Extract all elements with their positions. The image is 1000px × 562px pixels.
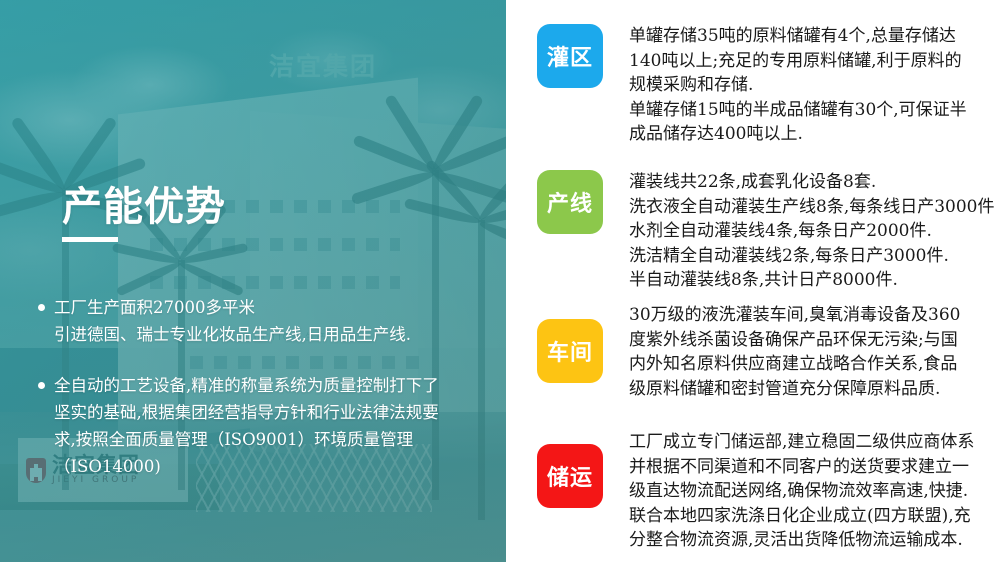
section-text-chuyun: 工厂成立专门储运部,建立稳固二级供应商体系 并根据不同渠道和不同客户的送货要求建… <box>629 430 974 553</box>
section-text-chejian: 30万级的液洗灌装车间,臭氧消毒设备及360 度紫外线杀菌设备确保产品环保无污染… <box>629 303 960 401</box>
page-title: 产能优势 <box>62 186 226 228</box>
bullet-text: 工厂生产面积27000多平米 引进德国、瑞士专业化妆品生产线,日用品生产线. <box>54 294 411 348</box>
section-chejian: 车间 30万级的液洗灌装车间,臭氧消毒设备及360 度紫外线杀菌设备确保产品环保… <box>506 303 1000 401</box>
section-text-guanqu: 单罐存储35吨的原料储罐有4个,总量存储达 140吨以上;充足的专用原料储罐,利… <box>629 24 967 147</box>
bullet-dot-icon <box>38 382 45 389</box>
bullet-list: 工厂生产面积27000多平米 引进德国、瑞士专业化妆品生产线,日用品生产线. 全… <box>38 294 498 504</box>
section-guanqu: 灌区 单罐存储35吨的原料储罐有4个,总量存储达 140吨以上;充足的专用原料储… <box>506 24 1000 147</box>
section-chanxian: 产线 灌装线共22条,成套乳化设备8套. 洗衣液全自动灌装生产线8条,每条线日产… <box>506 170 1000 293</box>
left-hero-panel: 洁宜集团 PRODUCTION 生产 洁宜集团 JIEYI GROUP <box>0 0 506 562</box>
list-item: 工厂生产面积27000多平米 引进德国、瑞士专业化妆品生产线,日用品生产线. <box>38 294 498 348</box>
right-content-panel: 灌区 单罐存储35吨的原料储罐有4个,总量存储达 140吨以上;充足的专用原料储… <box>506 0 1000 562</box>
bullet-text: 全自动的工艺设备,精准的称量系统为质量控制打下了 坚实的基础,根据集团经营指导方… <box>54 372 439 480</box>
section-text-chanxian: 灌装线共22条,成套乳化设备8套. 洗衣液全自动灌装生产线8条,每条线日产300… <box>629 170 994 293</box>
section-chuyun: 储运 工厂成立专门储运部,建立稳固二级供应商体系 并根据不同渠道和不同客户的送货… <box>506 430 1000 553</box>
title-block: 产能优势 <box>62 186 226 242</box>
bullet-dot-icon <box>38 304 45 311</box>
section-badge-chanxian[interactable]: 产线 <box>537 170 603 234</box>
list-item: 全自动的工艺设备,精准的称量系统为质量控制打下了 坚实的基础,根据集团经营指导方… <box>38 372 498 480</box>
title-underline-rule <box>62 237 118 242</box>
slide-canvas: 洁宜集团 PRODUCTION 生产 洁宜集团 JIEYI GROUP <box>0 0 1000 562</box>
section-badge-guanqu[interactable]: 灌区 <box>537 24 603 88</box>
section-badge-chejian[interactable]: 车间 <box>537 319 603 383</box>
section-badge-chuyun[interactable]: 储运 <box>537 444 603 508</box>
